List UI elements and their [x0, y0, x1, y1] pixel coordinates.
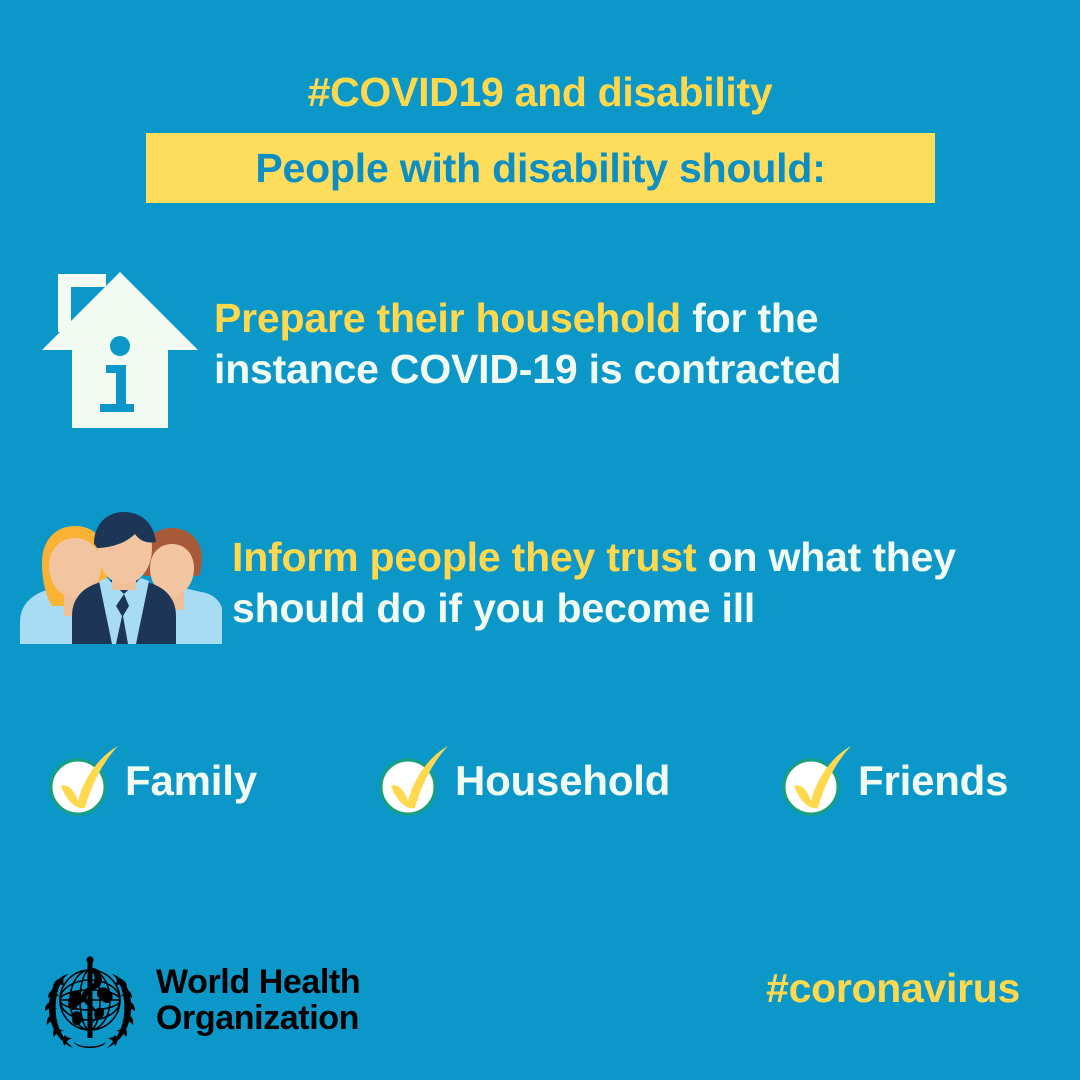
subtitle-banner: People with disability should:	[146, 133, 935, 203]
check-mark-icon	[375, 743, 451, 819]
tip-highlight: Prepare their household	[214, 295, 681, 341]
tip-text-prepare-household: Prepare their household for the instance…	[214, 293, 954, 395]
tip-highlight: Inform people they trust	[232, 534, 696, 580]
tip-row-inform-people: Inform people they trust on what they sh…	[0, 500, 1080, 660]
checklist-item-household: Household	[375, 726, 670, 836]
who-wordmark-line2: Organization	[156, 1000, 360, 1036]
tip-row-prepare-household: Prepare their household for the instance…	[0, 255, 1080, 445]
page-title: #COVID19 and disability	[0, 72, 1080, 113]
checklist-item-friends: Friends	[778, 726, 1008, 836]
tip-text-inform-people: Inform people they trust on what they sh…	[232, 532, 992, 634]
checklist-label: Household	[455, 760, 670, 802]
subtitle-text: People with disability should:	[146, 133, 935, 203]
three-people-icon	[12, 510, 222, 655]
who-logo: World Health Organization	[38, 948, 360, 1052]
checklist-label: Friends	[858, 760, 1008, 802]
who-emblem-icon	[38, 948, 142, 1052]
check-mark-icon	[45, 743, 121, 819]
who-wordmark: World Health Organization	[156, 964, 360, 1036]
house-info-icon	[40, 260, 200, 445]
check-mark-icon	[778, 743, 854, 819]
poster-canvas: #COVID19 and disability People with disa…	[0, 0, 1080, 1080]
footer-hashtag: #coronavirus	[766, 968, 1020, 1009]
who-wordmark-line1: World Health	[156, 963, 360, 1001]
checklist-item-family: Family	[45, 726, 257, 836]
checklist: Family Household Friends	[0, 726, 1080, 836]
checklist-label: Family	[125, 760, 257, 802]
